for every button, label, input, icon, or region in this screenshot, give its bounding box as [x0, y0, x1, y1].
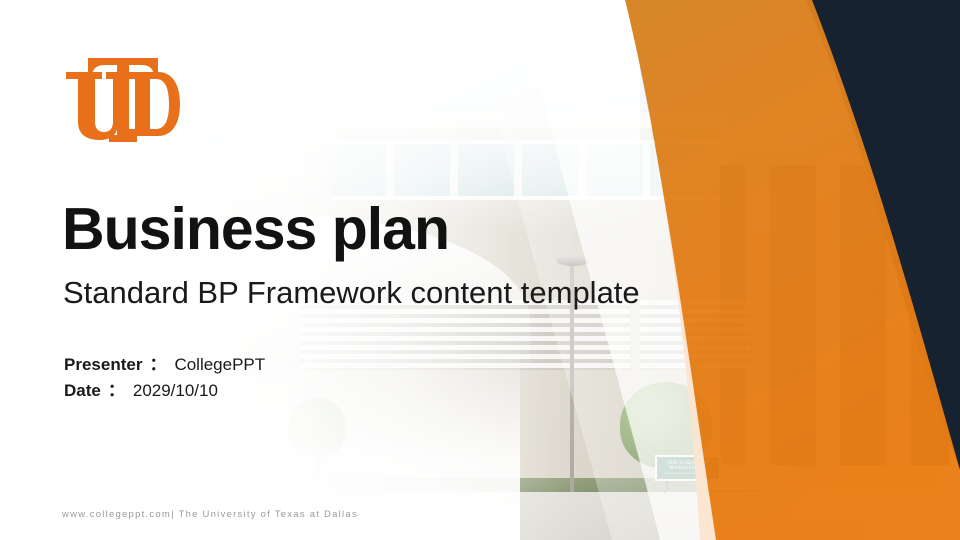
presentation-slide: THE SCHOOL OF MANAGEMENT The University …	[0, 0, 960, 540]
date-colon: ：	[101, 378, 130, 404]
presentation-meta: Presenter ： CollegePPT Date ： 2029/10/10	[64, 352, 265, 405]
meta-row-date: Date ： 2029/10/10	[64, 378, 265, 404]
utd-logo	[62, 52, 182, 150]
page-title: Business plan	[62, 200, 449, 259]
page-subtitle: Standard BP Framework content template	[63, 277, 640, 308]
date-value: 2029/10/10	[130, 378, 218, 404]
presenter-value: CollegePPT	[171, 352, 265, 378]
date-label: Date	[64, 378, 101, 404]
presenter-colon: ：	[142, 352, 171, 378]
meta-row-presenter: Presenter ： CollegePPT	[64, 352, 265, 378]
presenter-label: Presenter	[64, 352, 142, 378]
footer-credit: www.collegeppt.com| The University of Te…	[62, 509, 358, 520]
